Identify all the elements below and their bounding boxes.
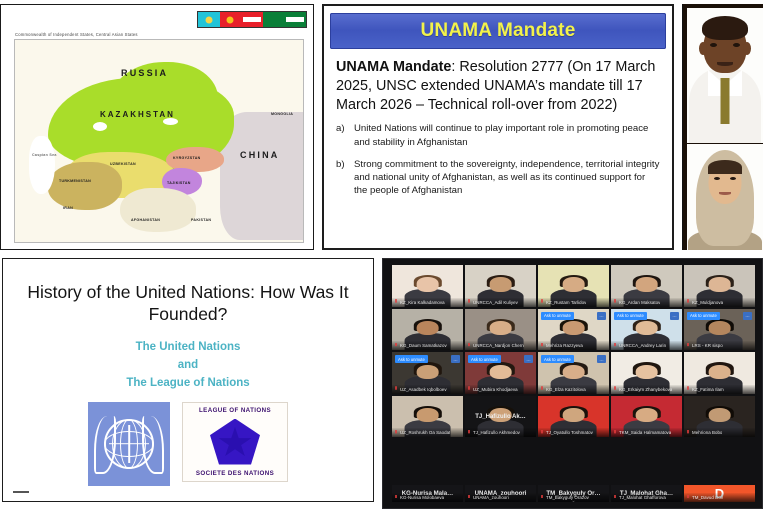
speaker-portrait-1 (687, 8, 763, 143)
participant-name-label: UZ_Asadbek Iqbolboev (400, 387, 447, 392)
portrait-1-ear-right (743, 42, 751, 55)
participant-name-label: TKM_Saida Halmamatova (619, 430, 671, 435)
participant-tile[interactable]: UZ_Roshrukh Oa Saodat (392, 396, 463, 438)
portrait-1-mouth (717, 62, 733, 66)
participant-name-label: Mehriona Bobo (692, 430, 722, 435)
bullet-marker: a) (336, 122, 347, 148)
tajikistan-flag (241, 12, 263, 27)
participant-face (708, 408, 731, 422)
portrait-1-eye-left (710, 43, 717, 47)
screenshot-stage: Commonwealth of Independent States, Cent… (0, 0, 763, 509)
participant-face (489, 277, 512, 291)
portrait-1-hair (702, 16, 748, 40)
participant-tile[interactable]: UNRCCA_Nardjon Chern (465, 309, 536, 351)
portrait-1-tie (721, 78, 730, 124)
portrait-1-ear-left (699, 42, 707, 55)
muted-microphone-icon (686, 430, 690, 436)
kazakhstan-flag (198, 12, 220, 27)
participant-name-bar: KG_Ardan Maksatov (611, 298, 682, 307)
label-tajikistan: TAJIKISTAN (167, 181, 191, 185)
unama-mandate-slide: UNAMA Mandate UNAMA Mandate: Resolution … (322, 4, 674, 250)
lake-balkhash (163, 118, 178, 125)
participant-name-bar: KZ_Kira Kalkadamova (392, 298, 463, 307)
participant-name-bar: UNRCCA_Nardjon Chern (465, 341, 536, 350)
subtitle-line-1: The United Nations (3, 339, 373, 357)
more-options-button[interactable]: … (743, 312, 752, 320)
participant-name-bar: Mehriona Bobo (684, 428, 755, 437)
chevron-down-icon[interactable]: ⌄ (571, 498, 575, 504)
participant-name-bar: KG_Daum Samatkazov (392, 341, 463, 350)
participant-name-label: UNRCCA_Nardjon Chern (473, 343, 524, 348)
league-logo-bottom-text: SOCIETE DES NATIONS (196, 470, 274, 477)
participant-face (416, 277, 439, 291)
portrait-1-eye-right (733, 43, 740, 47)
participant-tile[interactable]: Ask to unmute…Mehriza Razzyeva (538, 309, 609, 351)
label-pakistan: PAKISTAN (191, 218, 211, 222)
participant-name-bar: TJ_Hafizullo Akhmedov (465, 428, 536, 437)
league-of-nations-emblem-icon: LEAGUE OF NATIONS SOCIETE DES NATIONS (182, 402, 288, 482)
muted-microphone-icon (467, 299, 471, 305)
participant-name-label: KG_Ardan Maksatov (619, 300, 660, 305)
subtitle-line-3: The League of Nations (3, 375, 373, 393)
participant-face (708, 321, 731, 335)
speaker-portrait-column (682, 4, 763, 250)
turkmenistan-landmass (48, 162, 122, 210)
participant-face (416, 321, 439, 335)
participant-name-label: KZ_Rustam Tarlidov (546, 300, 586, 305)
label-caspian-sea: Caspian Sea (32, 153, 57, 157)
more-options-button[interactable]: … (597, 355, 606, 363)
participant-name-label: TJ_Oyatullo Toshmatov (546, 430, 593, 435)
ask-to-unmute-button[interactable]: Ask to unmute (468, 355, 501, 363)
muted-microphone-icon (686, 299, 690, 305)
ask-to-unmute-button[interactable]: Ask to unmute (614, 312, 647, 320)
participant-face (562, 321, 585, 335)
participant-face (635, 277, 658, 291)
participant-face (708, 277, 731, 291)
label-kyrgyzstan: KYRGYZSTAN (173, 156, 201, 160)
unama-slide-body: UNAMA Mandate: Resolution 2777 (On 17 Ma… (324, 49, 672, 198)
ask-to-unmute-button[interactable]: Ask to unmute (395, 355, 428, 363)
participant-name-label: UZ_Roshrukh Oa Saodat (400, 430, 450, 435)
central-asia-flags-strip (197, 11, 307, 28)
muted-microphone-icon (686, 343, 690, 349)
aral-sea (93, 122, 107, 131)
unama-lead-bold: UNAMA Mandate (336, 59, 451, 75)
unama-bullet-item: b) Strong commitment to the sovereignty,… (336, 158, 660, 198)
history-slide-title: History of the United Nations: How Was I… (21, 281, 355, 325)
history-of-un-slide: History of the United Nations: How Was I… (2, 258, 374, 502)
participant-tile[interactable]: KZ_Muldjanova (684, 265, 755, 307)
caspian-sea (29, 136, 55, 194)
un-ring-3 (104, 431, 154, 457)
participant-tile[interactable]: KZ_Fatima Ilam (684, 352, 755, 394)
participant-tile[interactable]: TJ_Hafizullo Ak…TJ_Hafizullo Akhmedov (465, 396, 536, 438)
muted-microphone-icon (613, 430, 617, 436)
participant-name-bar: TKM_Saida Halmamatova (611, 428, 682, 437)
muted-microphone-icon (467, 430, 471, 436)
label-afghanistan: AFGHANISTAN (131, 218, 160, 222)
participant-tile[interactable]: Ask to unmute…UZ_Asadbek Iqbolboev (392, 352, 463, 394)
participant-name-bar: UNRCCA_Adil Kuliyev (465, 298, 536, 307)
participant-tile[interactable]: Ask to unmute…UNRCCA_Andrey Larin (611, 309, 682, 351)
participant-name-bar: KG_Elza Kazitolova (538, 385, 609, 394)
portrait-2-eye-right (730, 177, 736, 180)
participant-name-label: LRS - KR sispo (692, 343, 723, 348)
muted-microphone-icon (613, 343, 617, 349)
label-turkmenistan: TURKMENISTAN (59, 179, 91, 183)
participant-tile[interactable]: Ask to unmute…UZ_Mubira Khodjaeva (465, 352, 536, 394)
participant-face (416, 408, 439, 422)
participant-tile[interactable]: UNRCCA_Adil Kuliyev (465, 265, 536, 307)
muted-microphone-icon (540, 430, 544, 436)
participant-tile[interactable]: Mehriona Bobo (684, 396, 755, 438)
participant-face (562, 365, 585, 379)
league-star-shape (218, 427, 252, 459)
participant-name-label: UNRCCA_Adil Kuliyev (473, 300, 518, 305)
participant-tile[interactable]: Ask to unmute…LRS - KR sispo (684, 309, 755, 351)
muted-microphone-icon (686, 386, 690, 392)
history-slide-subtitle: The United Nations and The League of Nat… (3, 339, 373, 392)
history-slide-logos: LEAGUE OF NATIONS SOCIETE DES NATIONS (3, 402, 373, 486)
turkmenistan-flag (263, 12, 285, 27)
label-kazakhstan: KAZAKHSTAN (100, 110, 175, 119)
unama-lead-paragraph: UNAMA Mandate: Resolution 2777 (On 17 Ma… (336, 58, 660, 115)
muted-microphone-icon (613, 299, 617, 305)
muted-microphone-icon (394, 299, 398, 305)
participant-face (635, 321, 658, 335)
more-options-button[interactable]: … (670, 312, 679, 320)
muted-microphone-icon (613, 386, 617, 392)
unama-slide-header: UNAMA Mandate (330, 13, 666, 49)
participant-name-bar: KZ_Muldjanova (684, 298, 755, 307)
portrait-2-mouth (719, 192, 731, 195)
ask-to-unmute-button[interactable]: Ask to unmute (687, 312, 720, 320)
participant-name-label: KZ_Fatima Ilam (692, 387, 724, 392)
participant-tile[interactable]: KZ_Rustam Tarlidov (538, 265, 609, 307)
participant-face (635, 408, 658, 422)
participant-tile[interactable]: KG_Ardan Maksatov (611, 265, 682, 307)
gallery-footer: ⌄ (392, 500, 755, 505)
participant-name-bar: LRS - KR sispo (684, 341, 755, 350)
participant-name-label: TJ_Hafizullo Akhmedov (473, 430, 520, 435)
uzbekistan-flag (284, 12, 306, 27)
ask-to-unmute-button[interactable]: Ask to unmute (541, 355, 574, 363)
kyrgyzstan-flag (220, 12, 242, 27)
participant-name-bar: KZ_Rustam Tarlidov (538, 298, 609, 307)
muted-microphone-icon (540, 299, 544, 305)
muted-microphone-icon (394, 343, 398, 349)
ask-to-unmute-button[interactable]: Ask to unmute (541, 312, 574, 320)
participant-name-bar: UZ_Roshrukh Oa Saodat (392, 428, 463, 437)
participant-tile[interactable]: Ask to unmute…KG_Elza Kazitolova (538, 352, 609, 394)
subtitle-line-2: and (3, 357, 373, 375)
slide-footer-mark (13, 491, 29, 493)
participant-name-bar: UZ_Mubira Khodjaeva (465, 385, 536, 394)
participant-face (708, 365, 731, 379)
participant-name-label: KG_Daum Samatkazov (400, 343, 447, 348)
participant-name-label: Mehriza Razzyeva (546, 343, 583, 348)
label-iran: IRAN (63, 206, 73, 210)
label-uzbekistan: UZBEKISTAN (110, 162, 136, 166)
participant-face (489, 365, 512, 379)
speaker-portrait-2 (687, 144, 763, 250)
unama-bullet-item: a) United Nations will continue to play … (336, 122, 660, 148)
bullet-text: Strong commitment to the sovereignty, in… (354, 158, 660, 198)
label-russia: RUSSIA (121, 68, 168, 78)
participant-name-bar: UZ_Asadbek Iqbolboev (392, 385, 463, 394)
league-logo-top-text: LEAGUE OF NATIONS (199, 407, 271, 414)
participant-name-label: UZ_Mubira Khodjaeva (473, 387, 518, 392)
united-nations-emblem-icon (88, 402, 170, 486)
participant-tile[interactable]: KG_Daum Samatkazov (392, 309, 463, 351)
participant-name-bar: Mehriza Razzyeva (538, 341, 609, 350)
participant-name-bar: KZ_Fatima Ilam (684, 385, 755, 394)
muted-microphone-icon (540, 343, 544, 349)
unama-bullet-list: a) United Nations will continue to play … (336, 122, 660, 197)
muted-microphone-icon (540, 386, 544, 392)
more-options-button[interactable]: … (597, 312, 606, 320)
more-options-button[interactable]: … (524, 355, 533, 363)
muted-microphone-icon (394, 430, 398, 436)
participant-tile[interactable]: TJ_Oyatullo Toshmatov (538, 396, 609, 438)
un-ring-2 (120, 419, 138, 469)
muted-microphone-icon (394, 386, 398, 392)
zoom-meeting-gallery: KZ_Kira KalkadamovaUNRCCA_Adil KuliyevKZ… (382, 258, 763, 509)
un-globe (104, 419, 154, 469)
participant-tile[interactable]: KG_Erkaiym Zhanybekova (611, 352, 682, 394)
participant-name-label: KZ_Muldjanova (692, 300, 723, 305)
participant-face (562, 408, 585, 422)
participant-face (635, 365, 658, 379)
participant-name-label: KG_Erkaiym Zhanybekova (619, 387, 672, 392)
participant-tile[interactable]: KZ_Kira Kalkadamova (392, 265, 463, 307)
map-canvas: RUSSIA CHINA KAZAKHSTAN UZBEKISTAN TURKM… (14, 39, 304, 243)
participant-name-label: UNRCCA_Andrey Larin (619, 343, 666, 348)
participant-name-bar: KG_Erkaiym Zhanybekova (611, 385, 682, 394)
participant-name-bar: TJ_Oyatullo Toshmatov (538, 428, 609, 437)
league-pentagon-shape (210, 419, 260, 465)
participant-face (489, 321, 512, 335)
label-mongolia: MONGOLIA (271, 112, 293, 116)
bullet-marker: b) (336, 158, 347, 198)
participant-name-label: KG_Elza Kazitolova (546, 387, 586, 392)
participant-face (416, 365, 439, 379)
participant-tile[interactable]: TKM_Saida Halmamatova (611, 396, 682, 438)
central-asia-map-slide: Commonwealth of Independent States, Cent… (0, 4, 314, 250)
participant-name-bar: UNRCCA_Andrey Larin (611, 341, 682, 350)
participant-grid: KZ_Kira KalkadamovaUNRCCA_Adil KuliyevKZ… (392, 265, 755, 481)
portrait-2-hair (708, 160, 742, 174)
afghanistan-landmass (120, 188, 196, 232)
participant-face (562, 277, 585, 291)
muted-microphone-icon (467, 386, 471, 392)
more-options-button[interactable]: … (451, 355, 460, 363)
muted-microphone-icon (467, 343, 471, 349)
label-china: CHINA (240, 150, 280, 160)
participant-name-label: KZ_Kira Kalkadamova (400, 300, 445, 305)
portrait-2-eye-left (714, 177, 720, 180)
map-caption: Commonwealth of Independent States, Cent… (15, 32, 138, 37)
bullet-text: United Nations will continue to play imp… (354, 122, 660, 148)
unama-header-text: UNAMA Mandate (421, 20, 576, 42)
